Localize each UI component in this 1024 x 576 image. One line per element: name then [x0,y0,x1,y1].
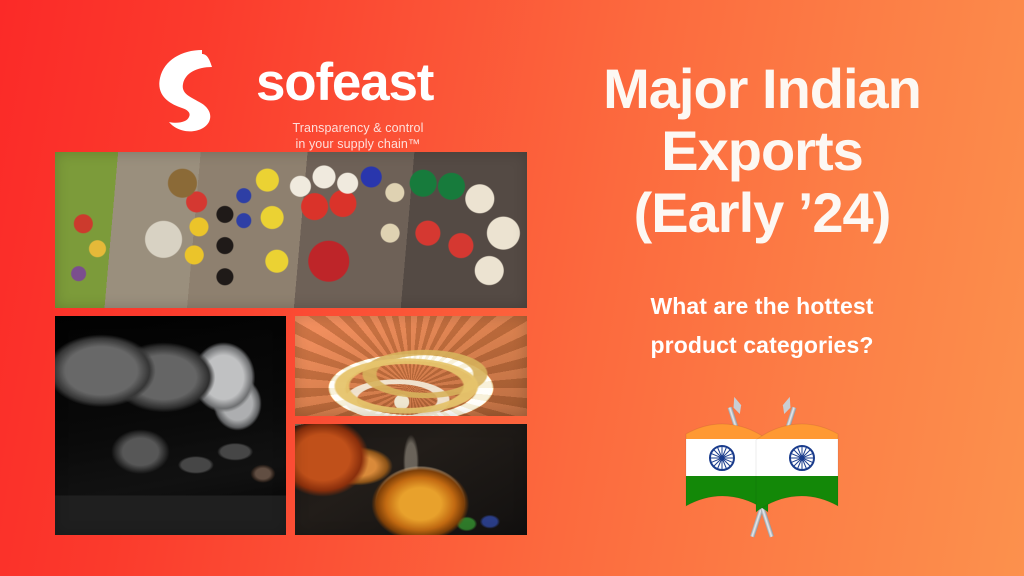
photo-bangles [295,316,527,416]
handicrafts-image [55,152,527,308]
photo-tea [295,424,527,535]
tea-image [295,424,527,535]
page-subtitle-line2: product categories? [560,326,964,365]
photo-handicrafts [55,152,527,308]
photo-auto-parts [55,316,286,535]
brand-tagline-line2: in your supply chain™ [295,137,420,151]
poster-canvas: sofeast Transparency & control in your s… [0,0,1024,576]
bangles-image [295,316,527,416]
photo-collage [55,152,527,535]
page-title-line3: (Early ’24) [546,182,978,244]
page-subtitle-line1: What are the hottest [560,287,964,326]
auto-parts-image [55,316,286,535]
indian-flags-crossed-icon [652,382,872,542]
brand-tagline: Transparency & control in your supply ch… [258,120,458,152]
page-title: Major Indian Exports (Early ’24) [546,58,978,244]
flag-right [742,402,852,528]
page-subtitle: What are the hottest product categories? [560,287,964,365]
brand-logo: sofeast Transparency & control in your s… [150,40,450,140]
page-title-line1: Major Indian [546,58,978,120]
brand-name: sofeast [256,56,433,109]
brand-tagline-line1: Transparency & control [293,121,424,135]
sofeast-s-mark-icon [150,44,242,136]
page-title-line2: Exports [546,120,978,182]
